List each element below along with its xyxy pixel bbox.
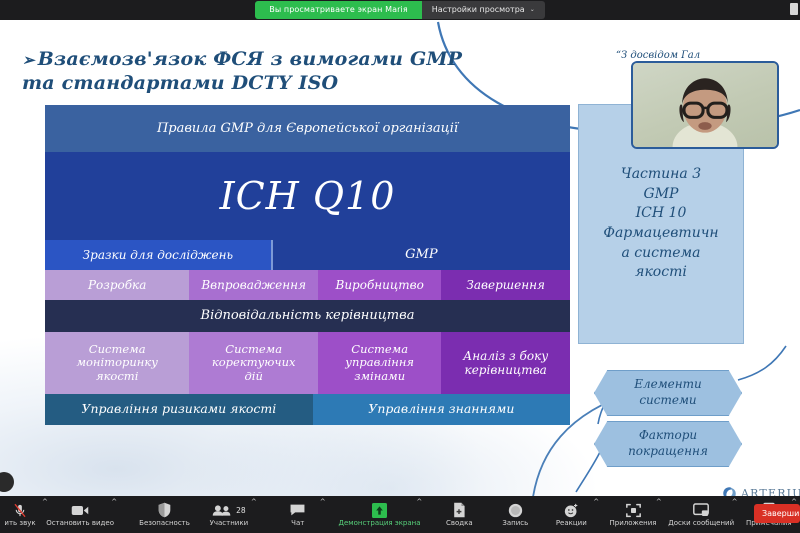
chevron-up-icon: ^ (593, 498, 599, 506)
zoom-meeting-window: Вы просматриваете экран Marія Настройки … (0, 0, 800, 533)
toolbar-mute-audio-label: ить звук (4, 520, 35, 527)
cell-system-quality-monitoring: Система моніторинку якості (45, 332, 189, 394)
presenter-video-thumbnail[interactable] (631, 61, 779, 149)
chevron-up-icon: ^ (251, 498, 257, 506)
record-icon (508, 503, 523, 518)
diagram-row-gmp-rules: Правила GMP для Європейської організації (45, 105, 570, 152)
summary-icon (452, 503, 466, 518)
participants-count: 28 (236, 506, 246, 515)
toolbar-reactions-options[interactable]: ^ (591, 496, 602, 533)
toolbar-participants[interactable]: 28 Участники (209, 496, 249, 533)
toolbar-security-label: Безопасность (139, 520, 190, 527)
hexagon-connector-lines (560, 340, 800, 496)
toolbar-summary[interactable]: Сводка (439, 496, 479, 533)
chevron-up-icon: ^ (656, 498, 662, 506)
slide-title: ➢Взаємозв'язок ФСЯ з вимогами GMP та ста… (22, 47, 542, 96)
camera-icon (71, 503, 89, 518)
toolbar-stop-video[interactable]: Остановить видео (51, 496, 109, 533)
chevron-down-icon: ⌄ (530, 7, 535, 13)
toolbar-record-label: Запись (502, 520, 528, 527)
meeting-toolbar: ить звук ^ Остановить видео ^ (0, 496, 800, 533)
view-options-label: Настройки просмотра (432, 6, 525, 14)
slide-title-line2: та стандартами DCTY ISO (22, 72, 338, 94)
window-control-indicator[interactable] (790, 3, 798, 15)
chevron-up-icon: ^ (732, 498, 738, 506)
mic-muted-icon (12, 503, 28, 518)
toolbar-participants-label: Участники (210, 520, 249, 527)
toolbar-chat-options[interactable]: ^ (318, 496, 329, 533)
whiteboard-icon (693, 503, 709, 518)
toolbar-reactions-label: Реакции (556, 520, 587, 527)
toolbar-apps-options[interactable]: ^ (654, 496, 665, 533)
cell-gmp-rules: Правила GMP для Європейської організації (45, 105, 570, 152)
cell-phase-production: Виробництво (318, 270, 441, 300)
cell-system-change-management: Система управління змінами (318, 332, 441, 394)
toolbar-whiteboards[interactable]: Доски сообщений (673, 496, 730, 533)
share-notice-label: Вы просматриваете экран Marія (269, 5, 408, 14)
cell-gmp: GMP (271, 240, 570, 270)
cell-system-corrective-actions: Система коректуючих дій (189, 332, 318, 394)
share-notice-pill[interactable]: Вы просматриваете экран Marія (255, 1, 422, 19)
shield-icon (157, 503, 172, 518)
participants-icon: 28 (212, 503, 246, 518)
toolbar-chat[interactable]: Чат (278, 496, 318, 533)
cell-samples-for-research: Зразки для досліджень (45, 240, 271, 270)
cell-phase-implementation: Ввпровадження (189, 270, 318, 300)
toolbar-chat-label: Чат (291, 520, 304, 527)
hexagon-system-elements: Елементи системи (594, 370, 742, 416)
quality-system-diagram: Правила GMP для Європейської організації… (45, 105, 570, 425)
screen-share-topbar: Вы просматриваете экран Marія Настройки … (0, 0, 800, 20)
slide-title-line1: Взаємозв'язок ФСЯ з вимогами GMP (38, 48, 462, 70)
diagram-row-phases: Розробка Ввпровадження Виробництво Завер… (45, 270, 570, 300)
hexagon-improvement-factors: Фактори покращення (594, 421, 742, 467)
share-screen-icon (372, 503, 387, 518)
arterium-logo-icon (722, 486, 737, 496)
reactions-icon (564, 503, 579, 518)
cell-management-responsibility: Відповідальність керівництва (45, 300, 570, 332)
toolbar-whiteboards-options[interactable]: ^ (730, 496, 741, 533)
chevron-up-icon: ^ (320, 498, 326, 506)
toolbar-share-screen-label: Демонстрация экрана (339, 520, 421, 527)
cell-ich-q10: ICH Q10 (45, 152, 570, 240)
cell-phase-development: Розробка (45, 270, 189, 300)
apps-icon (626, 503, 641, 518)
view-options-button[interactable]: Настройки просмотра ⌄ (422, 1, 545, 19)
toolbar-security[interactable]: Безопасность (142, 496, 187, 533)
cell-knowledge-management: Управління знаннями (313, 394, 570, 425)
toolbar-participants-options[interactable]: ^ (249, 496, 260, 533)
arterium-logo-text: ARTERIU (741, 487, 800, 496)
diagram-row-systems: Система моніторинку якості Система корек… (45, 332, 570, 394)
toolbar-whiteboards-label: Доски сообщений (668, 520, 734, 527)
diagram-row-samples: Зразки для досліджень GMP (45, 240, 570, 270)
chevron-up-icon: ^ (111, 498, 117, 506)
toolbar-summary-label: Сводка (446, 520, 473, 527)
presenter-avatar (633, 63, 777, 147)
toolbar-share-options[interactable]: ^ (414, 496, 425, 533)
chevron-up-icon: ^ (416, 498, 422, 506)
toolbar-mute-audio[interactable]: ить звук (0, 496, 40, 533)
end-meeting-button[interactable]: Заверши (754, 504, 800, 523)
toolbar-apps-label: Приложения (610, 520, 657, 527)
arterium-logo: ARTERIU (722, 486, 800, 496)
toolbar-apps[interactable]: Приложения (612, 496, 654, 533)
toolbar-stop-video-label: Остановить видео (46, 520, 114, 527)
toolbar-reactions[interactable]: Реакции (551, 496, 591, 533)
cell-quality-risk-management: Управління ризиками якості (45, 394, 313, 425)
bullet-arrow-icon: ➢ (22, 51, 35, 69)
toolbar-audio-options[interactable]: ^ (40, 496, 51, 533)
shared-slide: ➢Взаємозв'язок ФСЯ з вимогами GMP та ста… (0, 20, 800, 496)
toolbar-share-screen[interactable]: Демонстрация экрана (345, 496, 415, 533)
chevron-up-icon: ^ (42, 498, 48, 506)
cell-phase-completion: Завершення (441, 270, 570, 300)
chat-icon (289, 503, 306, 518)
diagram-row-management: Управління ризиками якості Управління зн… (45, 394, 570, 425)
toolbar-record[interactable]: Запись (495, 496, 535, 533)
reaction-dot (0, 472, 14, 492)
diagram-row-ich: ICH Q10 (45, 152, 570, 240)
cell-management-review: Аналіз з боку керівництва (441, 332, 570, 394)
toolbar-video-options[interactable]: ^ (109, 496, 120, 533)
diagram-row-responsibility: Відповідальність керівництва (45, 300, 570, 332)
